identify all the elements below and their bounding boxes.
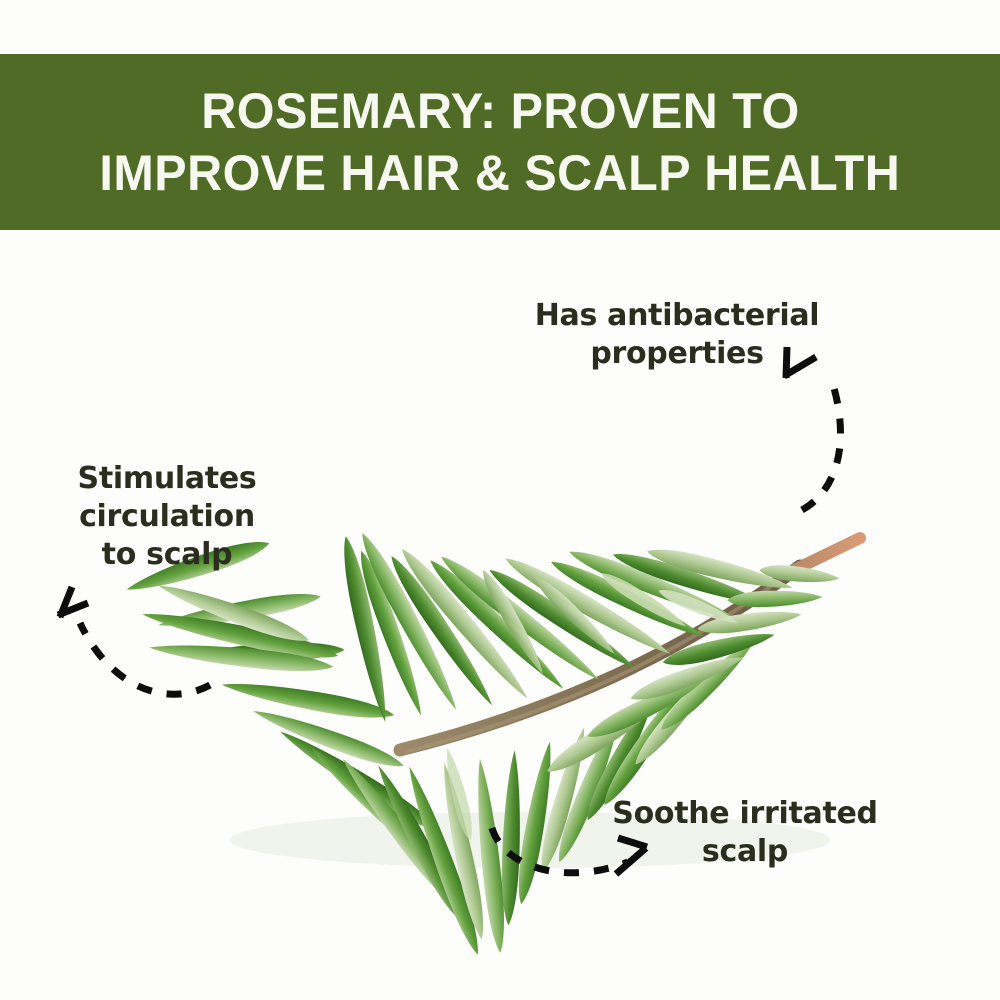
banner-title-line-2: IMPROVE HAIR & SCALP HEALTH [100, 142, 901, 204]
banner-title-line-1: ROSEMARY: PROVEN TO [201, 80, 799, 142]
callout-circulation-line-2: circulation [42, 498, 292, 536]
callout-circulation-line-1: Stimulates [42, 460, 292, 498]
curved-dashed-arrow-icon-soothe [470, 810, 670, 900]
callout-circulation-label: Stimulates circulation to scalp [42, 460, 292, 574]
callout-circulation-line-3: to scalp [42, 536, 292, 574]
curved-dashed-arrow-icon-circulation [50, 575, 230, 715]
curved-dashed-arrow-icon-antibacterial [760, 330, 870, 530]
infographic-canvas: ROSEMARY: PROVEN TO IMPROVE HAIR & SCALP… [0, 0, 1000, 1000]
header-banner: ROSEMARY: PROVEN TO IMPROVE HAIR & SCALP… [0, 54, 1000, 230]
stem-tip [790, 538, 860, 572]
